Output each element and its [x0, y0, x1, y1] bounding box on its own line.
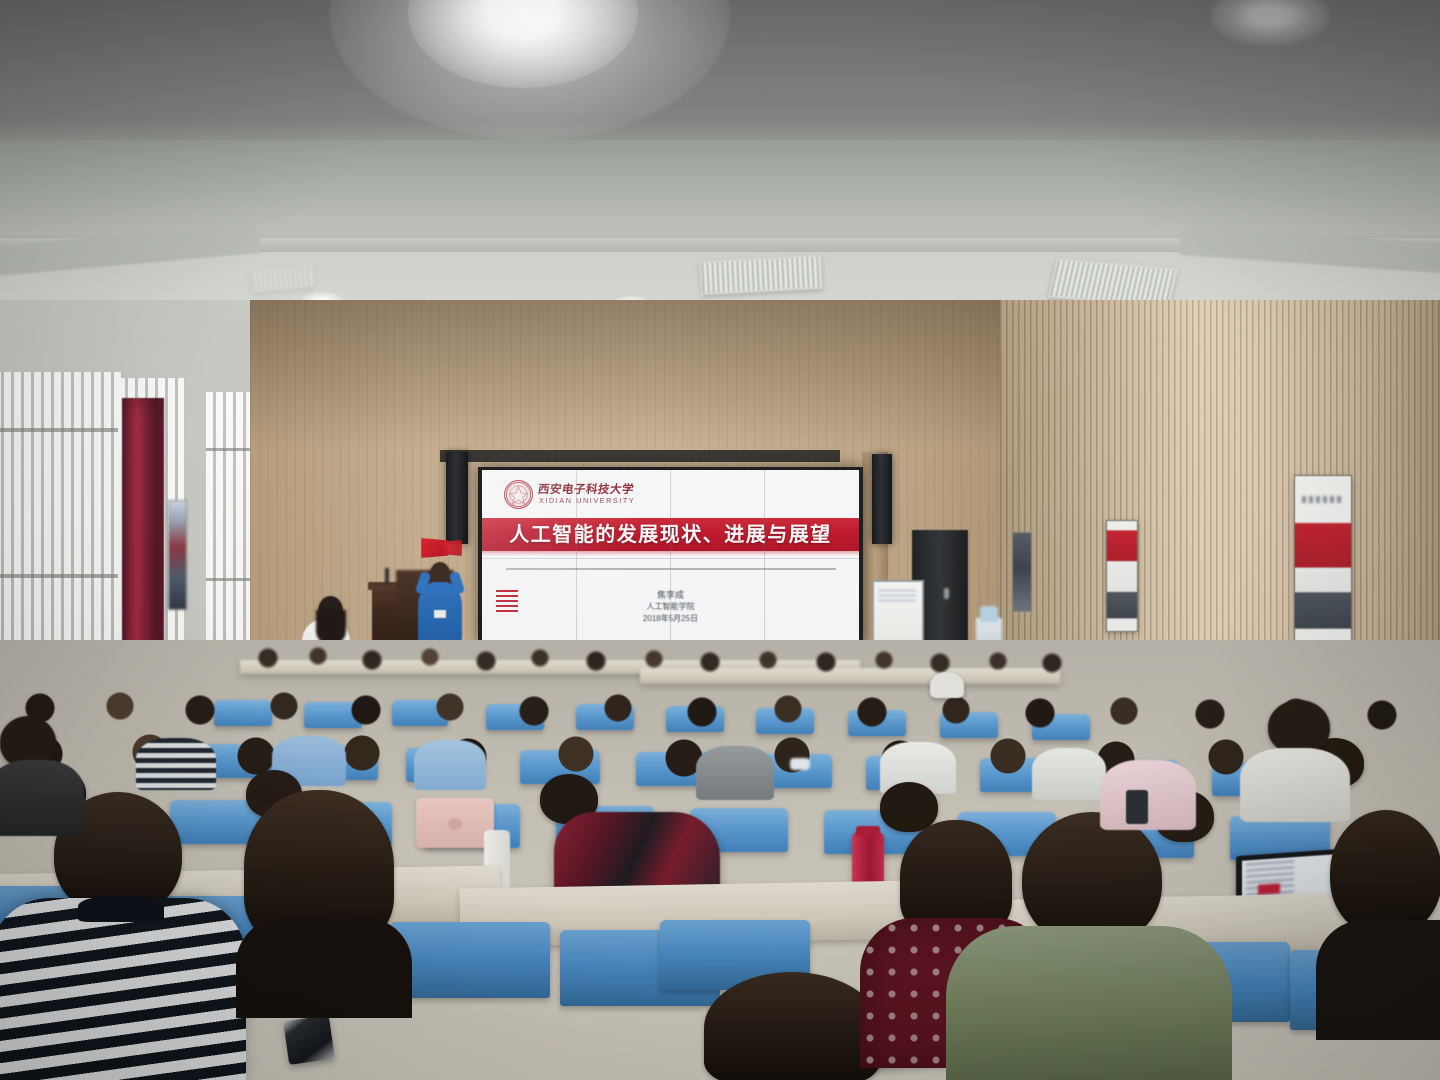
window-bar [0, 428, 122, 432]
audience-member-with-cap [930, 672, 964, 698]
audience-member-white-shirt [1032, 748, 1106, 800]
ceiling-shadow-band [0, 118, 1440, 140]
foreground-person-green-shirt [946, 926, 1232, 1080]
framed-banner-red[interactable] [1106, 520, 1138, 632]
door-handle-icon [944, 588, 949, 599]
bottle-cap-icon [856, 826, 880, 836]
seat[interactable] [390, 922, 550, 998]
laptop-screen-red-badge [1258, 883, 1280, 895]
audience-member-white-top [1240, 748, 1350, 822]
red-flag-secondary [444, 540, 462, 556]
video-wall-seam [482, 558, 859, 559]
foreground-person-head [704, 972, 880, 1080]
front-wall-upper-shadow [250, 300, 1050, 450]
handbag-clasp-icon [448, 818, 462, 830]
framed-poster-between-curtains [168, 500, 187, 610]
audience-member-dark-top [0, 760, 84, 836]
window-bar [0, 574, 122, 578]
audience-member-striped-shirt [136, 738, 216, 790]
slide-divider [506, 568, 836, 570]
smartphone-on-desk[interactable] [283, 1015, 335, 1065]
audience-member-grey-shirt [696, 746, 774, 800]
front-wall-dark-header [440, 450, 840, 462]
air-conditioning-vent [699, 255, 823, 295]
video-wall-screen[interactable]: 西安电子科技大学 XIDIAN UNIVERSITY 人工智能的发展现状、进展与… [482, 470, 859, 640]
audience-row-far [240, 636, 1080, 674]
university-name-en: XIDIAN UNIVERSITY [539, 496, 635, 505]
staff-badge [434, 610, 446, 618]
red-flag [421, 538, 448, 558]
loudspeaker-right [872, 454, 892, 544]
loudspeaker-left [446, 452, 468, 544]
video-wall-seam [670, 470, 671, 640]
whiteboard-writing [878, 590, 916, 604]
foreground-person-head [1330, 810, 1440, 936]
audience-member-blue-shirt [414, 740, 486, 790]
foreground-person-body [236, 918, 412, 1018]
water-dispenser-bottle [980, 606, 998, 622]
foreground-person-striped-shirt [0, 898, 246, 1080]
audience-member-pink-top [1100, 760, 1196, 830]
university-seal-icon [504, 480, 533, 509]
face-mask [790, 758, 810, 770]
video-wall-seam [576, 470, 577, 640]
foreground-person-body [1316, 920, 1440, 1040]
video-wall-seam [764, 470, 765, 640]
lecture-hall-photo: 西安电子科技大学 XIDIAN UNIVERSITY 人工智能的发展现状、进展与… [0, 0, 1440, 1080]
smartphone-held[interactable] [1126, 790, 1148, 824]
framed-banner-heading-text [1302, 496, 1342, 503]
university-name-cn: 西安电子科技大学 [537, 481, 636, 497]
lectern-microphone-icon [385, 568, 389, 584]
audience-head [1268, 700, 1330, 754]
audience-head [880, 782, 938, 832]
foreground-person-collar [78, 896, 164, 922]
framed-poster-small [1012, 532, 1032, 612]
